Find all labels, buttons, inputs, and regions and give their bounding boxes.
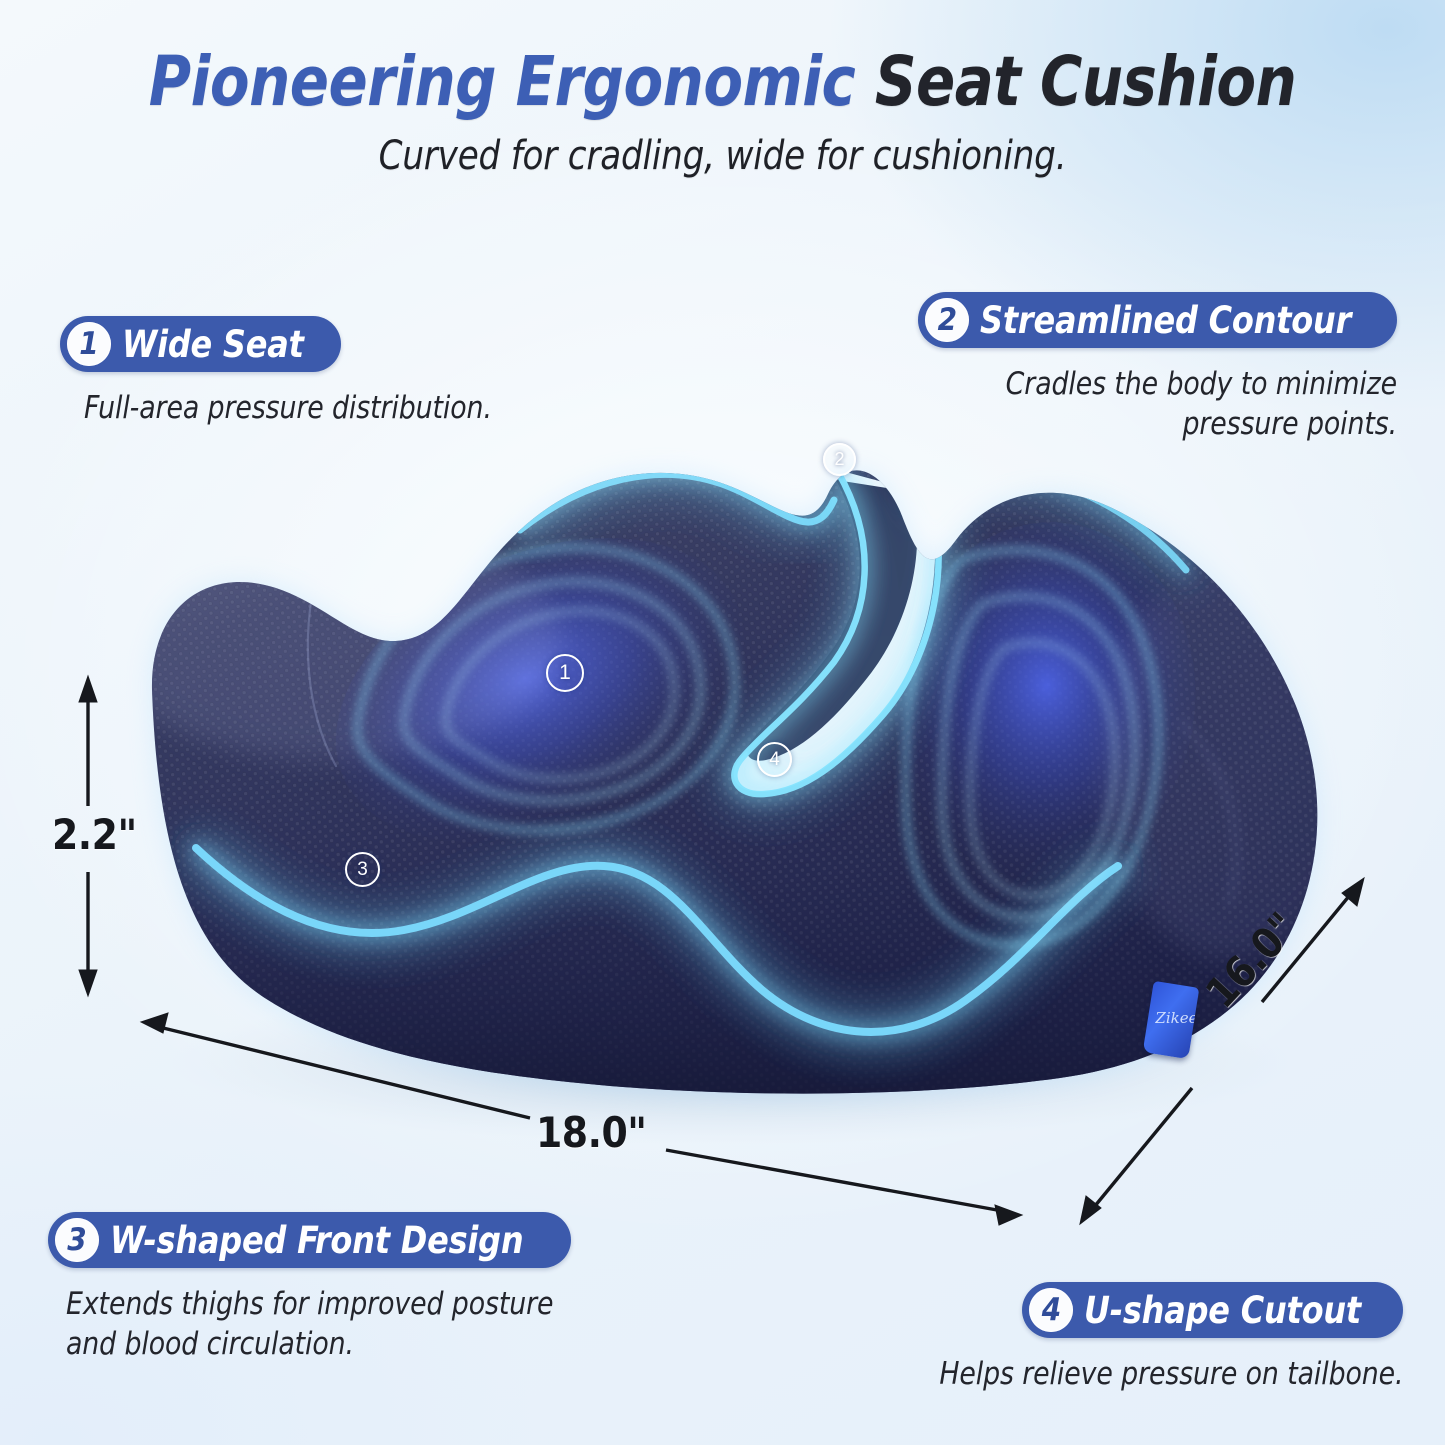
feature-callout-wide-seat: 1 Wide Seat Full-area pressure distribut… [60,316,509,428]
dimension-depth-label: 16.0" [1196,903,1307,1017]
feature-label-3: W-shaped Front Design [110,1222,523,1259]
cushion-marker-2: 2 [823,443,856,476]
feature-description-3: Extends thighs for improved posture and … [66,1284,584,1365]
feature-number-4: 4 [1029,1288,1073,1332]
feature-label-1: Wide Seat [122,326,304,363]
brand-tag: Zikee [1143,981,1200,1059]
feature-label-2: Streamlined Contour [980,302,1351,339]
brand-tag-label: Zikee [1155,1009,1197,1027]
feature-number-1: 1 [67,322,111,366]
cushion-shadow [170,980,1290,1144]
cushion-body [152,470,1317,1093]
feature-badge-1[interactable]: 1 Wide Seat [60,316,341,372]
feature-label-4: U-shape Cutout [1084,1292,1361,1329]
u-shape-cutout-gap [734,470,935,792]
feature-badge-4[interactable]: 4 U-shape Cutout [1022,1282,1403,1338]
infographic-canvas: Zikee Pioneering Ergonomic Seat Cushion … [0,0,1445,1445]
cushion-marker-4: 4 [757,742,792,777]
header: Pioneering Ergonomic Seat Cushion Curved… [0,46,1445,179]
title-blue-part: Pioneering Ergonomic [149,42,856,122]
cushion-marker-3: 3 [345,852,380,887]
feature-callout-streamlined-contour: 2 Streamlined Contour Cradles the body t… [918,292,1397,445]
feature-description-2: Cradles the body to minimize pressure po… [955,364,1397,445]
title-dark-part: Seat Cushion [875,42,1296,122]
feature-description-1: Full-area pressure distribution. [84,388,492,428]
dimension-height-label: 2.2" [52,810,137,859]
page-title: Pioneering Ergonomic Seat Cushion [51,46,1395,119]
feature-badge-2[interactable]: 2 Streamlined Contour [918,292,1397,348]
dimension-depth-arrow [1080,878,1364,1224]
dimension-width-label: 18.0" [536,1108,646,1157]
feature-number-2: 2 [925,298,969,342]
feature-callout-w-shaped-front-design: 3 W-shaped Front Design Extends thighs f… [48,1212,606,1365]
dimension-arrows [79,676,1364,1225]
feature-number-3: 3 [55,1218,99,1262]
feature-callout-u-shape-cutout: 4 U-shape Cutout Helps relieve pressure … [920,1282,1403,1394]
feature-badge-3[interactable]: 3 W-shaped Front Design [48,1212,571,1268]
page-subtitle: Curved for cradling, wide for cushioning… [36,133,1409,179]
feature-description-4: Helps relieve pressure on tailbone. [939,1354,1403,1394]
cushion-marker-1: 1 [546,654,584,692]
